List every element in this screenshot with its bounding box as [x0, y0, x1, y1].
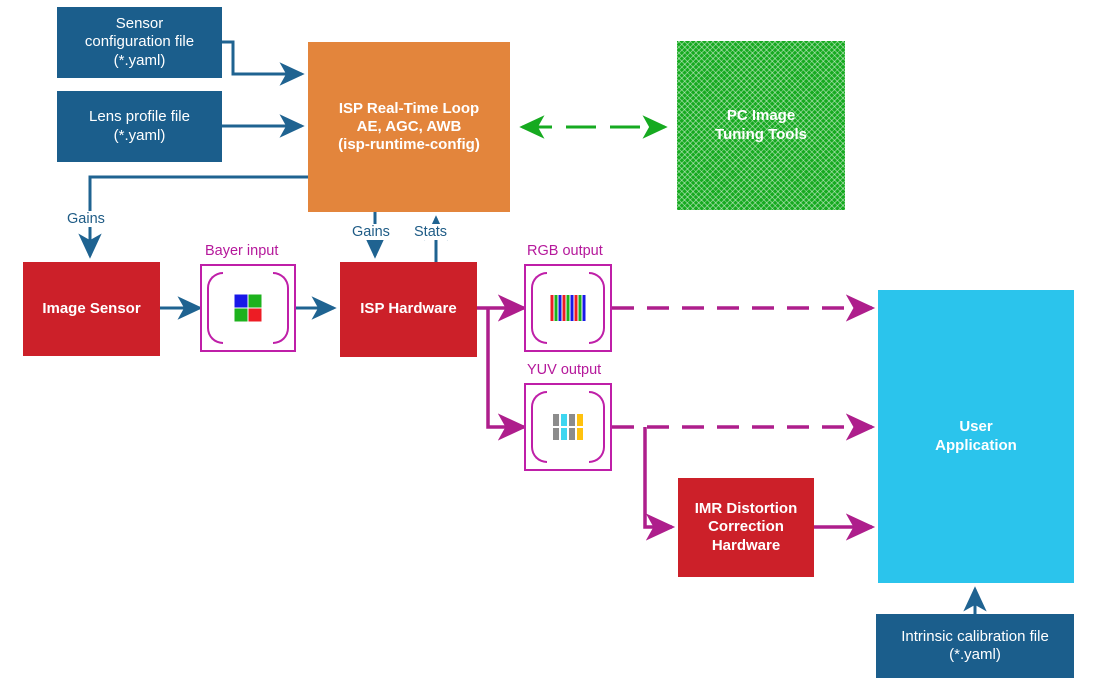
node-label: Sensor configuration file (*.yaml): [85, 15, 194, 70]
node-label: Intrinsic calibration file (*.yaml): [901, 628, 1049, 665]
node-sensor-config-file[interactable]: Sensor configuration file (*.yaml): [57, 7, 222, 78]
rgb-stripe-cells: [551, 295, 586, 321]
bracket-left-icon: [531, 391, 547, 463]
rgb-output-icon: [524, 264, 612, 352]
edge-label-bayer-input: Bayer input: [203, 243, 280, 259]
edge-label-gains-isp: Gains: [350, 224, 392, 240]
yuv-output-icon: [524, 383, 612, 471]
node-imr-distortion-correction-hardware[interactable]: IMR Distortion Correction Hardware: [678, 478, 814, 577]
node-label: IMR Distortion Correction Hardware: [695, 500, 798, 555]
bracket-right-icon: [273, 272, 289, 344]
wire-yuv-output-to-imr: [645, 427, 672, 527]
edge-label-gains-sensor: Gains: [65, 211, 107, 227]
node-lens-profile-file[interactable]: Lens profile file (*.yaml): [57, 91, 222, 162]
edge-label-rgb-output: RGB output: [525, 243, 605, 259]
edge-label-stats-isp: Stats: [412, 224, 449, 240]
node-isp-realtime-loop[interactable]: ISP Real-Time Loop AE, AGC, AWB (isp-run…: [308, 42, 510, 212]
bayer-input-icon: [200, 264, 296, 352]
bracket-left-icon: [207, 272, 223, 344]
node-pc-image-tuning-tools[interactable]: PC Image Tuning Tools: [677, 41, 845, 210]
node-label: Image Sensor: [42, 300, 140, 318]
node-label: ISP Hardware: [360, 300, 456, 318]
diagram-canvas: Sensor configuration file (*.yaml) Lens …: [0, 0, 1096, 690]
node-label: User Application: [935, 418, 1017, 455]
node-label: PC Image Tuning Tools: [715, 107, 807, 144]
node-user-application[interactable]: User Application: [878, 290, 1074, 583]
bayer-cells: [235, 295, 262, 322]
node-isp-hardware[interactable]: ISP Hardware: [340, 262, 477, 357]
bracket-right-icon: [589, 391, 605, 463]
node-label: ISP Real-Time Loop AE, AGC, AWB (isp-run…: [338, 100, 480, 155]
node-image-sensor[interactable]: Image Sensor: [23, 262, 160, 356]
yuv-block-cells: [553, 414, 583, 440]
edge-label-yuv-output: YUV output: [525, 362, 603, 378]
wire-isp-hardware-to-yuv-output: [488, 308, 524, 427]
wire-sensor-config-to-isp-loop: [222, 42, 302, 74]
node-label: Lens profile file (*.yaml): [89, 108, 190, 145]
bracket-right-icon: [589, 272, 605, 344]
bracket-left-icon: [531, 272, 547, 344]
node-intrinsic-calibration-file[interactable]: Intrinsic calibration file (*.yaml): [876, 614, 1074, 678]
